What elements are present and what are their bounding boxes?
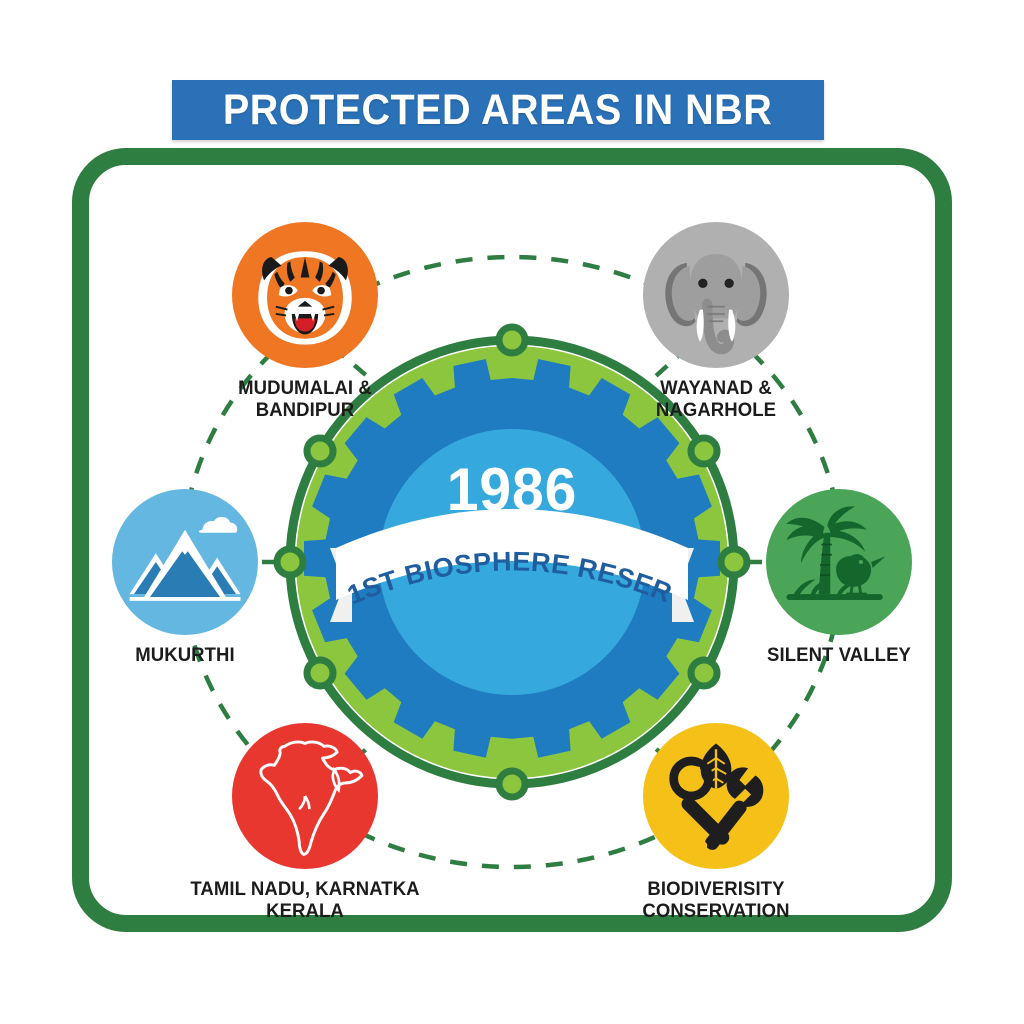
tiger-icon xyxy=(232,222,378,368)
infographic-canvas: PROTECTED AREAS IN NBR xyxy=(0,0,1024,1024)
magnifier-wrench-leaf-icon xyxy=(643,723,789,869)
node-mukurthi[interactable]: MUKURTHI xyxy=(112,489,258,689)
node-label-line-2: CONSERVATION xyxy=(642,901,789,923)
node-silent-valley[interactable]: SILENT VALLEY xyxy=(766,489,912,689)
node-label-line-1: MUDUMALAI & xyxy=(238,378,372,400)
node-circle-mukurthi xyxy=(112,489,258,635)
node-circle-silent-valley xyxy=(766,489,912,635)
node-wayanad-nagarhole[interactable]: WAYANAD & NAGARHOLE xyxy=(643,222,789,432)
node-label-biodiversity: BIODIVERISITY CONSERVATION xyxy=(638,879,793,923)
page-title-banner: PROTECTED AREAS IN NBR xyxy=(172,80,824,140)
node-label-line-1: WAYANAD & xyxy=(656,378,776,400)
node-label-line-2: NAGARHOLE xyxy=(656,400,776,422)
palm-bird-icon xyxy=(766,489,912,635)
node-label-line-1: TAMIL NADU, KARNATKA xyxy=(190,879,419,901)
page-title: PROTECTED AREAS IN NBR xyxy=(223,86,772,135)
node-label-mukurthi: MUKURTHI xyxy=(133,645,238,667)
node-mudumalai-bandipur[interactable]: MUDUMALAI & BANDIPUR xyxy=(232,222,378,432)
india-map-icon xyxy=(232,723,378,869)
node-circle-biodiversity xyxy=(643,723,789,869)
node-label-line-1: SILENT VALLEY xyxy=(767,645,911,667)
node-biodiversity-conservation[interactable]: BIODIVERISITY CONSERVATION xyxy=(643,723,789,933)
elephant-icon xyxy=(643,222,789,368)
node-label-line-1: MUKURTHI xyxy=(135,645,235,667)
node-label-line-1: BIODIVERISITY xyxy=(642,879,789,901)
node-label-wayanad: WAYANAD & NAGARHOLE xyxy=(653,378,780,422)
node-circle-states xyxy=(232,723,378,869)
node-circle-wayanad xyxy=(643,222,789,368)
node-tamil-nadu-karnataka-kerala[interactable]: TAMIL NADU, KARNATKA KERALA xyxy=(232,723,378,933)
node-circle-mudumalai xyxy=(232,222,378,368)
node-label-mudumalai: MUDUMALAI & BANDIPUR xyxy=(235,378,376,422)
mountain-icon xyxy=(112,489,258,635)
node-label-line-2: BANDIPUR xyxy=(238,400,372,422)
node-label-states: TAMIL NADU, KARNATKA KERALA xyxy=(184,879,425,923)
node-label-line-2: KERALA xyxy=(190,901,419,923)
node-label-silent-valley: SILENT VALLEY xyxy=(763,645,915,667)
